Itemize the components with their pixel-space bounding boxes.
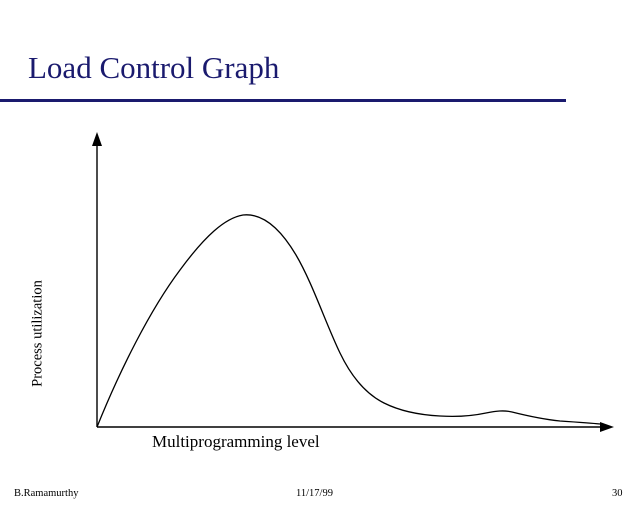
footer-author: B.Ramamurthy	[14, 488, 78, 499]
y-axis-arrow	[92, 132, 102, 146]
slide: Load Control Graph Process utilization M…	[0, 0, 640, 512]
y-axis-label: Process utilization	[30, 234, 47, 434]
utilization-curve	[97, 215, 600, 427]
x-axis-arrow	[600, 422, 614, 432]
title-divider	[0, 99, 566, 102]
slide-footer: B.Ramamurthy 11/17/99 30	[0, 480, 640, 512]
chart-svg	[0, 110, 640, 440]
footer-date: 11/17/99	[296, 488, 333, 499]
footer-page-number: 30	[612, 488, 623, 499]
x-axis-label: Multiprogramming level	[152, 432, 320, 452]
page-title: Load Control Graph	[28, 50, 279, 86]
load-control-chart: Process utilization	[0, 110, 640, 440]
